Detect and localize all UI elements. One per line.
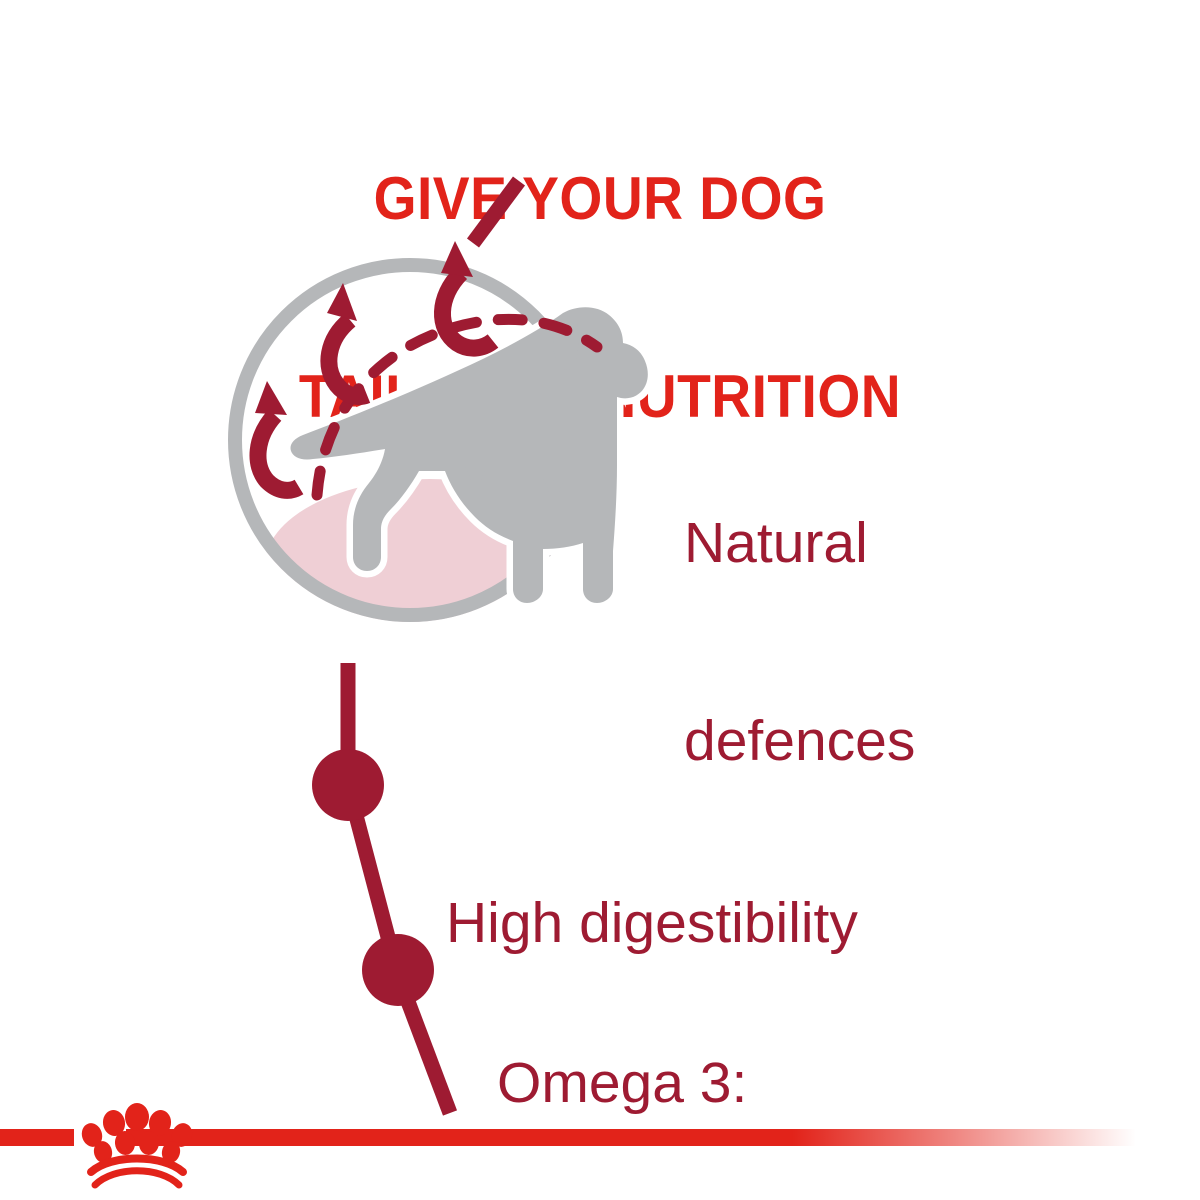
footer-bar-left-segment [0,1129,74,1146]
royal-canin-crown-logo [74,1097,200,1193]
crown-arc-lower [95,1171,179,1185]
deflected-arrow-icon-2 [441,241,493,348]
connector-dot-2 [362,934,434,1006]
deflected-arrow-icon-1 [327,283,367,397]
crown-pearl-top-3 [125,1103,149,1131]
footer [0,1095,1200,1200]
natural-defences-icon [205,165,675,685]
connector-dot-1 [312,749,384,821]
crown-arcs [91,1159,183,1186]
poster-canvas: GIVE YOUR DOG TAILORED NUTRITION [0,0,1200,1200]
tick-mark-icon [473,181,519,243]
benefit-natural-line-1: Natural [684,510,915,576]
footer-bar-right-segment [126,1129,1136,1146]
